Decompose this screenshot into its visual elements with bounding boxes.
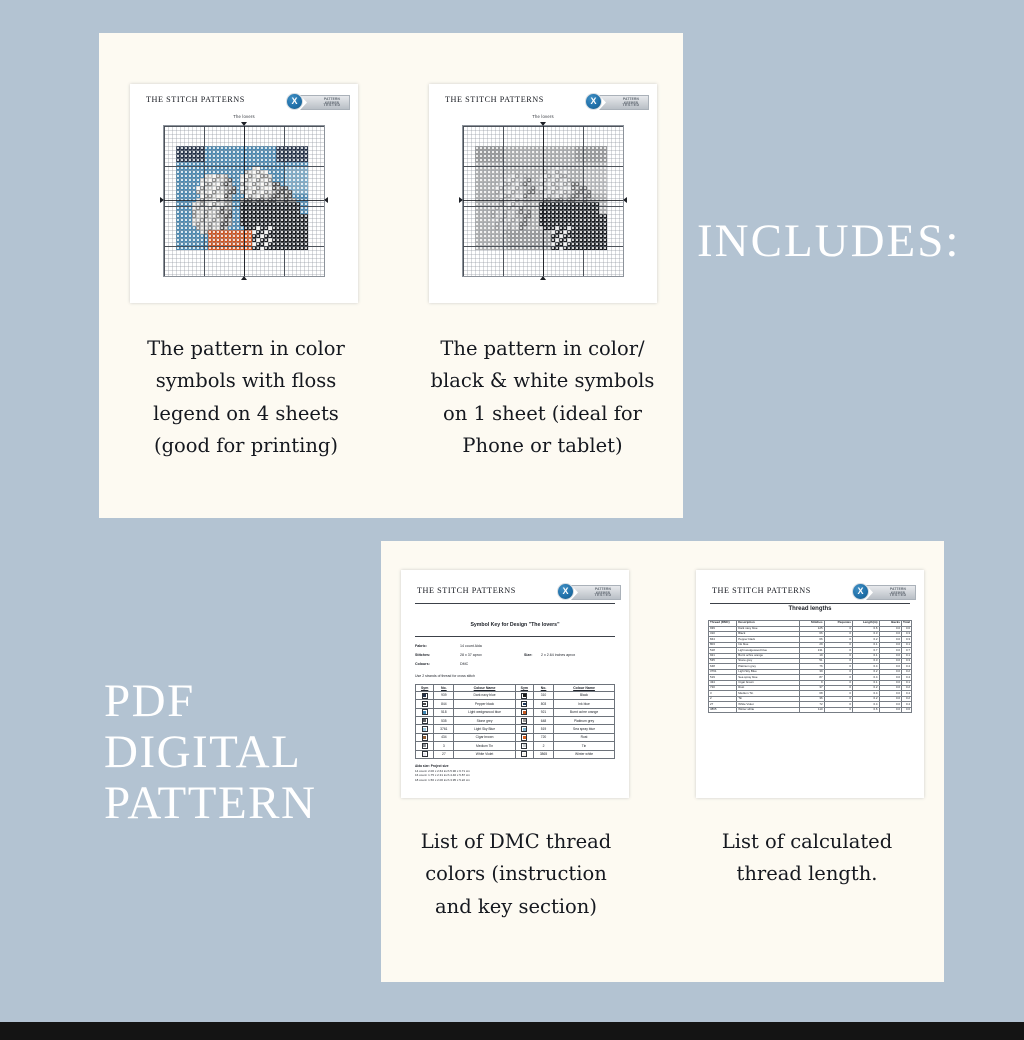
col-sym-left: Sym — [416, 685, 434, 692]
table-row: 939Dark navy blue310Black — [416, 691, 615, 699]
symbol-swatch — [515, 691, 533, 699]
badge-seal-icon: X — [286, 93, 303, 110]
pattern-keeper-badge-icon: PATTERN KEEPER TESTED X — [852, 583, 914, 600]
header-rule — [415, 603, 615, 604]
symbol-swatch — [416, 717, 434, 725]
table-row: 3761Light Sky Blue519Sea spray blue — [416, 725, 615, 733]
dmc-number: 310 — [533, 691, 553, 699]
pattern-sheet-color[interactable]: THE STITCH PATTERNS PATTERN KEEPER TESTE… — [130, 84, 358, 303]
dmc-number: 518 — [434, 708, 454, 716]
badge-seal-icon: X — [852, 583, 869, 600]
brand-title: THE STITCH PATTERNS — [712, 586, 811, 595]
colour-name: Pepper black — [454, 700, 515, 708]
dmc-number: 535 — [434, 717, 454, 725]
center-axis-vertical — [543, 126, 544, 276]
colour-name: Sea spray blue — [554, 725, 615, 733]
caption-bw-symbols: The pattern in color/ black & white symb… — [420, 333, 665, 462]
dmc-number: 519 — [533, 725, 553, 733]
dmc-number: 3 — [434, 742, 454, 750]
colour-name: Medium Tin — [454, 742, 515, 750]
table-header-row: Sym No. Colour Name Sym No. Colour Name — [416, 685, 615, 692]
stitch-grid-color — [163, 125, 325, 277]
colours-label: Colours: — [415, 662, 430, 666]
colour-name: Platinum grey — [554, 717, 615, 725]
pattern-keeper-badge-icon: PATTERN KEEPER TESTED X — [286, 93, 348, 110]
cell-length: 0.6 — [852, 707, 879, 712]
caption-dmc-list: List of DMC thread colors (instruction a… — [408, 826, 624, 923]
thread-length-table: Thread (DMC) Description Stitches Pequni… — [708, 620, 912, 713]
symbol-swatch — [515, 742, 533, 750]
chart-area-color: The lovers — [130, 112, 358, 297]
symbol-key-body: 939Dark navy blue310Black844Pepper black… — [416, 691, 615, 758]
header-rule — [710, 603, 910, 604]
badge-seal-icon: X — [585, 93, 602, 110]
colour-name: Dark navy blue — [454, 691, 515, 699]
table-row: 518Light wedgewood blue921Burnt ochre or… — [416, 708, 615, 716]
dmc-number: 3761 — [434, 725, 454, 733]
dmc-number: 720 — [533, 733, 553, 741]
sheet-header: THE STITCH PATTERNS PATTERN KEEPER TESTE… — [429, 84, 657, 110]
size-value: 2 x 2.64 inches aprox — [541, 653, 575, 657]
dmc-number: 3865 — [533, 750, 553, 758]
caption-color-symbols: The pattern in color symbols with floss … — [135, 333, 357, 462]
symbol-key-sheet[interactable]: THE STITCH PATTERNS PATTERN KEEPER TESTE… — [401, 570, 629, 798]
brand-title: THE STITCH PATTERNS — [417, 586, 516, 595]
dmc-number: 921 — [533, 708, 553, 716]
pdf-digital-pattern-heading: PDF DIGITAL PATTERN — [104, 676, 316, 828]
colour-name: Light wedgewood blue — [454, 708, 515, 716]
colour-name: White Violet — [454, 750, 515, 758]
fabric-label: Fabric: — [415, 644, 427, 648]
aida-size-block: Aida size: Project size 14 count: 2.00 x… — [415, 764, 470, 782]
strands-note: Use 2 strands of thread for cross stitch — [415, 674, 475, 678]
pattern-sheet-bw[interactable]: THE STITCH PATTERNS PATTERN KEEPER TESTE… — [429, 84, 657, 303]
chart-design-label: The lovers — [130, 114, 358, 119]
table-row: 27White Violet3865Winter white — [416, 750, 615, 758]
pdf-line-3: PATTERN — [104, 778, 316, 829]
table-row: 3Medium Tin2Tin — [416, 742, 615, 750]
cell-backs: 0.0 — [879, 707, 902, 712]
chart-design-label: The lovers — [429, 114, 657, 119]
stitches-value: 28 x 37 aprox — [460, 653, 482, 657]
colour-name: Rust — [554, 733, 615, 741]
pattern-keeper-badge-icon: PATTERN KEEPER TESTED X — [557, 583, 619, 600]
badge-line2: TESTED — [616, 103, 646, 107]
symbol-swatch — [515, 750, 533, 758]
fabric-value: 14 count Aida — [460, 644, 482, 648]
table-row: 3865Winter white11000.60.00.6 — [709, 707, 912, 712]
colour-name: Light Sky Blue — [454, 725, 515, 733]
symbol-swatch — [416, 700, 434, 708]
symbol-swatch — [416, 733, 434, 741]
center-axis-vertical — [244, 126, 245, 276]
pattern-keeper-badge-icon: PATTERN KEEPER TESTED X — [585, 93, 647, 110]
sheet-header: THE STITCH PATTERNS PATTERN KEEPER TESTE… — [696, 570, 924, 596]
size-label: Size: — [524, 653, 532, 657]
thread-length-body: 939Dark navy blue12500.60.00.6310Black66… — [709, 626, 912, 713]
poster-stage: THE STITCH PATTERNS PATTERN KEEPER TESTE… — [0, 0, 1024, 1040]
colour-name: Cigar brown — [454, 733, 515, 741]
dmc-number: 27 — [434, 750, 454, 758]
col-sym-right: Sym — [515, 685, 533, 692]
table-row: 434Cigar brown720Rust — [416, 733, 615, 741]
dmc-number: 803 — [533, 700, 553, 708]
center-marker — [241, 276, 247, 280]
symbol-key-title: Symbol Key for Design "The lovers" — [401, 622, 629, 628]
colour-name: Burnt ochre orange — [554, 708, 615, 716]
aida-row-18: 18 count: 1.56 x 2.00 inch 3.95 x 5.22 c… — [415, 778, 470, 783]
includes-heading: INCLUDES: — [697, 216, 960, 267]
caption-thread-length: List of calculated thread length. — [690, 826, 924, 891]
center-marker — [623, 197, 627, 203]
sheet-header: THE STITCH PATTERNS PATTERN KEEPER TESTE… — [130, 84, 358, 110]
pdf-line-1: PDF — [104, 676, 316, 727]
colours-value: DMC — [460, 662, 468, 666]
aida-heading: Aida size: Project size — [415, 764, 448, 768]
cell-pequnies: 0 — [824, 707, 852, 712]
center-marker — [324, 197, 328, 203]
center-marker — [540, 276, 546, 280]
cell-total: 0.6 — [902, 707, 912, 712]
footer-bar — [0, 1022, 1024, 1040]
stitch-grid-bw — [462, 125, 624, 277]
symbol-key-table: Sym No. Colour Name Sym No. Colour Name … — [415, 684, 615, 759]
badge-line2: TESTED — [883, 593, 913, 597]
brand-title: THE STITCH PATTERNS — [146, 95, 245, 104]
sheet-header: THE STITCH PATTERNS PATTERN KEEPER TESTE… — [401, 570, 629, 596]
cell-thread: 3865 — [709, 707, 737, 712]
colour-name: Black — [554, 691, 615, 699]
table-row: 535Stone grey648Platinum grey — [416, 717, 615, 725]
dmc-number: 2 — [533, 742, 553, 750]
symbol-swatch — [515, 725, 533, 733]
col-no-right: No. — [533, 685, 553, 692]
badge-line2: TESTED — [588, 593, 618, 597]
stitches-label: Stitches: — [415, 653, 430, 657]
col-no-left: No. — [434, 685, 454, 692]
colour-name: Stone grey — [454, 717, 515, 725]
symbol-swatch — [515, 708, 533, 716]
title-rule — [415, 636, 615, 637]
table-row: 844Pepper black803Ink blue — [416, 700, 615, 708]
aida-row-16: 16 count: 1.75 x 2.31 inch 4.40 x 5.87 c… — [415, 773, 470, 778]
thread-lengths-title: Thread lengths — [696, 606, 924, 612]
symbol-swatch — [515, 733, 533, 741]
symbol-swatch — [416, 725, 434, 733]
col-name-right: Colour Name — [554, 685, 615, 692]
symbol-swatch — [515, 717, 533, 725]
symbol-swatch — [416, 750, 434, 758]
colour-name: Winter white — [554, 750, 615, 758]
badge-seal-icon: X — [557, 583, 574, 600]
dmc-number: 844 — [434, 700, 454, 708]
dmc-number: 434 — [434, 733, 454, 741]
badge-line2: TESTED — [317, 103, 347, 107]
symbol-swatch — [416, 742, 434, 750]
thread-length-sheet[interactable]: THE STITCH PATTERNS PATTERN KEEPER TESTE… — [696, 570, 924, 798]
cell-stitches: 110 — [800, 707, 825, 712]
brand-title: THE STITCH PATTERNS — [445, 95, 544, 104]
symbol-swatch — [416, 708, 434, 716]
symbol-swatch — [515, 700, 533, 708]
symbol-swatch — [416, 691, 434, 699]
chart-area-bw: The lovers — [429, 112, 657, 297]
colour-name: Tin — [554, 742, 615, 750]
col-name-left: Colour Name — [454, 685, 515, 692]
colour-name: Ink blue — [554, 700, 615, 708]
dmc-number: 648 — [533, 717, 553, 725]
cell-desc: Winter white — [737, 707, 800, 712]
pdf-line-2: DIGITAL — [104, 727, 316, 778]
dmc-number: 939 — [434, 691, 454, 699]
